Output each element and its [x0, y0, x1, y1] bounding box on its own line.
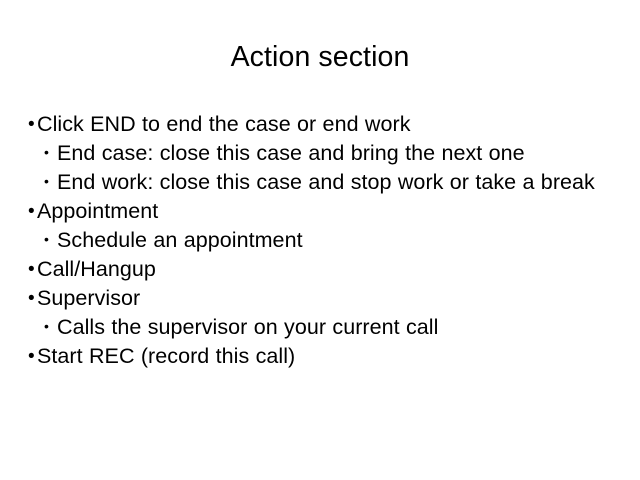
bullet-item-label: End case: close this case and bring the …	[57, 139, 618, 168]
bullet-item-label: End work: close this case and stop work …	[57, 168, 618, 197]
bullet-item-label: Calls the supervisor on your current cal…	[57, 313, 618, 342]
bullet-item: •Click END to end the case or end work	[28, 110, 618, 139]
bullet-point-icon: •	[28, 284, 37, 313]
bullet-item-label: Schedule an appointment	[57, 226, 618, 255]
bullet-item-label: Call/Hangup	[37, 255, 618, 284]
page-title: Action section	[0, 40, 640, 74]
bullet-point-icon: •	[44, 138, 57, 167]
bullet-point-icon: •	[44, 312, 57, 341]
bullet-item: •Schedule an appointment	[28, 226, 618, 255]
bullet-item-label: Click END to end the case or end work	[37, 110, 618, 139]
bullet-item: •Call/Hangup	[28, 255, 618, 284]
bullet-point-icon: •	[28, 110, 37, 139]
bullet-point-icon: •	[44, 167, 57, 196]
bullet-item-label: Appointment	[37, 197, 618, 226]
bullet-item-label: Supervisor	[37, 284, 618, 313]
bullet-item: •End work: close this case and stop work…	[28, 168, 618, 197]
bullet-item: •Calls the supervisor on your current ca…	[28, 313, 618, 342]
bullet-point-icon: •	[44, 225, 57, 254]
bullet-point-icon: •	[28, 197, 37, 226]
bullet-point-icon: •	[28, 342, 37, 371]
bullet-list: •Click END to end the case or end work•E…	[28, 110, 618, 371]
bullet-item: •Supervisor	[28, 284, 618, 313]
slide-canvas: Action section •Click END to end the cas…	[0, 0, 640, 480]
bullet-item-label: Start REC (record this call)	[37, 342, 618, 371]
bullet-point-icon: •	[28, 255, 37, 284]
bullet-item: •End case: close this case and bring the…	[28, 139, 618, 168]
bullet-item: •Start REC (record this call)	[28, 342, 618, 371]
bullet-item: •Appointment	[28, 197, 618, 226]
